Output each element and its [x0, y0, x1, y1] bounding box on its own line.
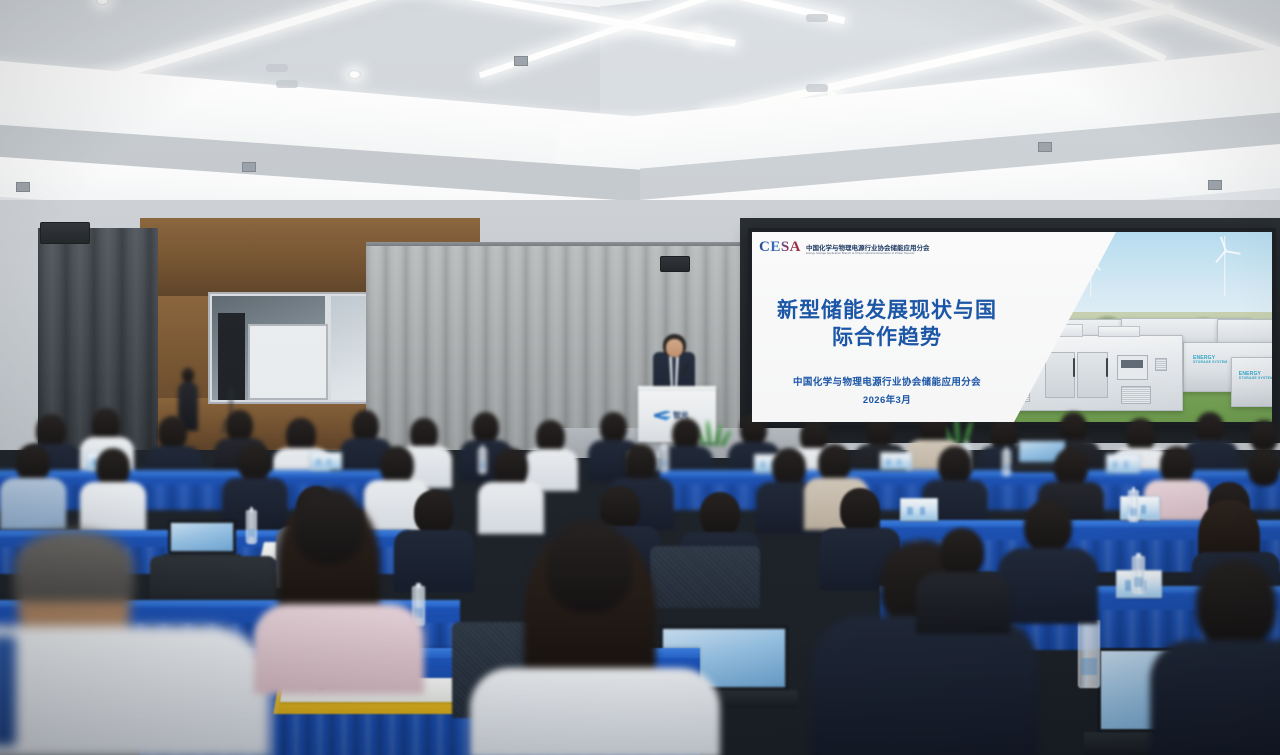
attendee-head [940, 528, 984, 576]
ess-vent [1155, 358, 1166, 371]
attendee-head [286, 418, 316, 452]
podium-logo-mark [654, 411, 671, 421]
attendee-torso [478, 482, 544, 534]
attendee-torso [0, 478, 66, 530]
ceiling-vent [266, 64, 288, 72]
head [182, 368, 194, 382]
ceiling-spotlight [1038, 142, 1052, 152]
camera-body [225, 378, 237, 387]
attendee-torso [254, 604, 424, 694]
ceiling-vent [806, 84, 828, 92]
attendee-head [1024, 500, 1072, 552]
name-tent [900, 498, 938, 521]
wind-turbine-icon [1214, 236, 1236, 296]
attendee-hair [14, 530, 134, 602]
name-tent [1120, 496, 1160, 520]
attendee-head [36, 414, 66, 448]
water-bottle [660, 446, 669, 472]
slide-text-panel: CESA 中国化学与物理电源行业协会储能应用分会 Energy Storage … [752, 232, 1116, 422]
water-bottle [246, 510, 257, 544]
laptop-display [171, 523, 233, 551]
cesa-logo: CESA 中国化学与物理电源行业协会储能应用分会 Energy Storage … [759, 240, 930, 255]
attendee-torso [0, 626, 270, 755]
attendee-head [294, 488, 364, 564]
slide-title-line-1: 新型储能发展现状与国 [762, 298, 1012, 325]
slide-date: 2026年3月 [762, 392, 1012, 406]
chair [650, 546, 760, 608]
attendee-head [238, 444, 271, 481]
plant-leaf [705, 420, 712, 446]
laptop-lid [168, 520, 236, 554]
name-tent [880, 452, 912, 470]
ess-vent [1121, 386, 1151, 404]
attendee-head [1126, 418, 1155, 452]
attendee-torso [812, 616, 1038, 755]
window-inner-sash [248, 324, 328, 400]
name-tent [1106, 454, 1140, 473]
downlight-icon [348, 70, 361, 79]
cesa-english-name: Energy Storage Application Branch of Chi… [806, 252, 930, 255]
ceiling-spotlight [1208, 180, 1222, 190]
lanyard [0, 636, 16, 746]
attendee-head [472, 412, 499, 443]
ceiling-vent [276, 80, 298, 88]
water-bottle [1132, 556, 1145, 594]
attendee-head [840, 488, 880, 532]
ceiling-spotlight [16, 182, 30, 192]
decorative-plant [700, 420, 726, 446]
downlight-icon [694, 32, 707, 41]
attendee-head [158, 416, 187, 449]
presenter-face [666, 339, 683, 357]
ceiling-spotlight [514, 56, 528, 66]
attendee-head [1196, 560, 1276, 648]
attendee-head [96, 448, 130, 486]
attendee-head [772, 448, 806, 486]
downlight-icon [826, 90, 839, 99]
cesa-names: 中国化学与物理电源行业协会储能应用分会 Energy Storage Appli… [806, 245, 930, 255]
cesa-acronym: CESA [759, 240, 801, 255]
conference-hall-scene: ENERGY STORAGE SYSTEM ENERGY STORAGE SYS… [0, 0, 1280, 755]
attendee-torso [1150, 640, 1280, 755]
loudspeaker-icon [660, 256, 690, 272]
ess-label: ENERGY STORAGE SYSTEM [1239, 372, 1272, 382]
attendee-head [92, 408, 120, 440]
ess-label: ENERGY STORAGE SYSTEM [1193, 356, 1227, 366]
slide-organization: 中国化学与物理电源行业协会储能应用分会 [762, 374, 1012, 388]
attendee-head [624, 444, 657, 481]
attendee-head [818, 444, 851, 481]
podium-top-edge [638, 386, 716, 391]
attendee-head [1248, 448, 1280, 486]
water-bottle [1002, 450, 1011, 476]
attendee-head [700, 492, 740, 536]
ess-panel-display [1121, 360, 1143, 368]
cesa-chinese-name: 中国化学与物理电源行业协会储能应用分会 [806, 245, 930, 252]
loudspeaker-icon [40, 222, 90, 244]
presentation-screen: ENERGY STORAGE SYSTEM ENERGY STORAGE SYS… [748, 228, 1276, 426]
attendee-head [1054, 448, 1088, 486]
attendee-head [494, 448, 528, 486]
slide: ENERGY STORAGE SYSTEM ENERGY STORAGE SYS… [752, 232, 1272, 422]
attendee-torso [998, 548, 1098, 624]
slide-title: 新型储能发展现状与国 际合作趋势 [762, 298, 1012, 352]
slide-title-line-2: 际合作趋势 [762, 325, 1012, 352]
attendee-torso [916, 572, 1010, 634]
attendee-torso [80, 482, 146, 534]
water-bottle [1078, 620, 1100, 688]
ess-container-right: ENERGY STORAGE SYSTEM [1231, 357, 1272, 406]
attendee-head [1160, 446, 1194, 484]
attendee-head [938, 446, 972, 484]
attendee-torso [394, 530, 474, 592]
attendee-head [380, 446, 414, 484]
attendee-head [16, 444, 50, 482]
ess-control-panel [1117, 355, 1147, 380]
attendee-head [226, 410, 253, 441]
attendee-head [600, 412, 627, 443]
name-tent [310, 452, 342, 470]
ceiling-spotlight [242, 162, 256, 172]
attendee-torso [470, 668, 720, 755]
water-bottle [478, 448, 487, 474]
ceiling-vent [806, 14, 828, 22]
attendee-head [546, 520, 632, 612]
water-bottle [1128, 490, 1139, 522]
attendee-head [414, 490, 454, 534]
table-edge [0, 470, 400, 477]
